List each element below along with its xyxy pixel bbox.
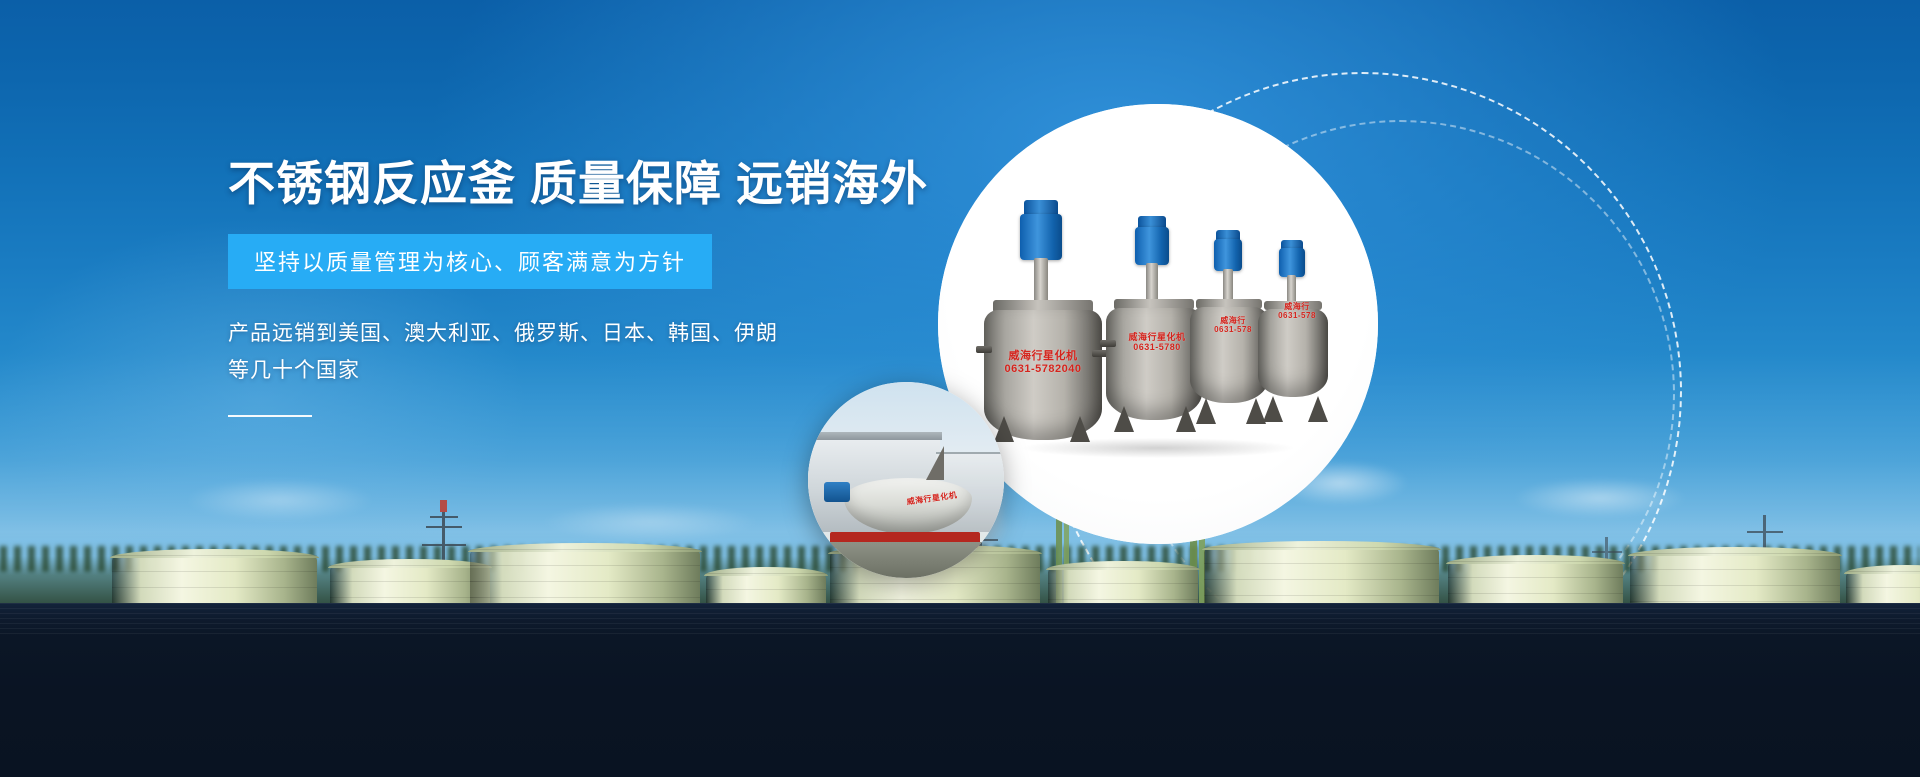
factory-roof xyxy=(808,432,942,440)
vessel-label: 威海行 0631-578 xyxy=(1254,302,1340,320)
factory-vessel-motor xyxy=(824,482,850,502)
divider-rule xyxy=(228,415,312,417)
hero-banner: 威海行星化机 0631-5782040 威海行星化机 0631-5780 xyxy=(0,0,1920,777)
cloud-wisp xyxy=(150,470,410,530)
reactor-vessel xyxy=(1258,240,1328,420)
banner-headline: 不锈钢反应釜 质量保障 远销海外 xyxy=(228,158,928,210)
banner-slogan-ribbon: 坚持以质量管理为核心、顾客满意为方针 xyxy=(228,234,712,289)
banner-copy: 不锈钢反应釜 质量保障 远销海外 坚持以质量管理为核心、顾客满意为方针 产品远销… xyxy=(228,158,928,417)
cloud-wisp xyxy=(500,495,800,549)
banner-paragraph: 产品远销到美国、澳大利亚、俄罗斯、日本、韩国、伊朗 等几十个国家 xyxy=(228,315,928,390)
factory-vessel-fin xyxy=(926,446,944,480)
water-line xyxy=(0,603,1920,637)
bottom-frame xyxy=(0,637,1920,777)
banner-paragraph-line2: 等几十个国家 xyxy=(228,352,928,389)
factory-ground xyxy=(808,542,1004,578)
floor-shadow xyxy=(968,434,1348,462)
product-photo-circle: 威海行星化机 0631-5782040 威海行星化机 0631-5780 xyxy=(938,104,1378,544)
vessel-label: 威海行星化机 0631-5782040 xyxy=(978,350,1108,375)
banner-paragraph-line1: 产品远销到美国、澳大利亚、俄罗斯、日本、韩国、伊朗 xyxy=(228,315,928,352)
